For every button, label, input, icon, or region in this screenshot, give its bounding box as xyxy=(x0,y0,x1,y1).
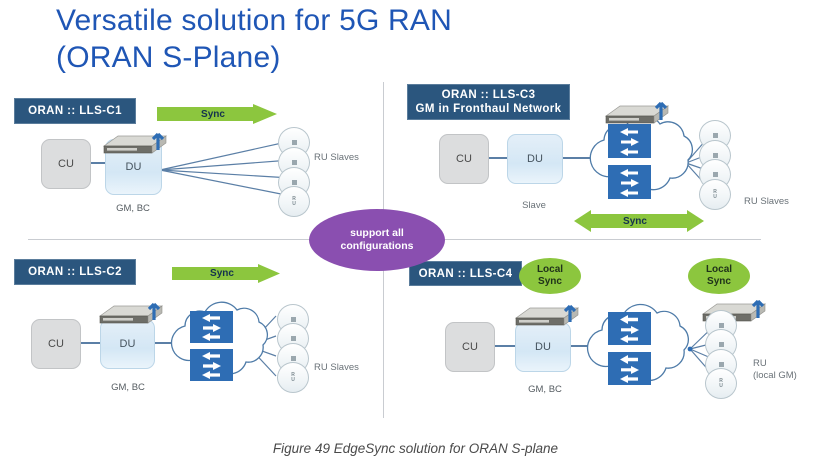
badge-lls-c3: ORAN :: LLS-C3 GM in Fronthaul Network xyxy=(407,84,570,120)
ru-icon xyxy=(291,356,296,361)
ru-label-c3-text: RU Slaves xyxy=(744,196,789,207)
ru-label-c3: RU Slaves xyxy=(744,196,808,208)
ru-node-c1-4: R U xyxy=(278,186,310,217)
ru-glyph-bottom: U xyxy=(713,195,717,200)
du-caption-c3-text: Slave xyxy=(522,200,546,211)
ru-label-c2-text: RU Slaves xyxy=(314,362,359,373)
local-sync-right-c4: Local Sync xyxy=(688,258,750,294)
ru-icon xyxy=(713,172,718,177)
center-ellipse-line-2: configurations xyxy=(341,240,414,253)
cu-box-c4-label: CU xyxy=(462,341,478,353)
gm-appliance-c4-du xyxy=(508,304,588,341)
gm-appliance-c3 xyxy=(598,102,678,139)
cu-box-c1: CU xyxy=(41,139,91,189)
du-caption-c3: Slave xyxy=(504,200,564,212)
ru-label-c1: RU Slaves xyxy=(314,152,376,164)
center-ellipse-line-1: support all xyxy=(350,227,404,240)
badge-lls-c1-line-1: ORAN :: LLS-C1 xyxy=(28,104,122,118)
slide-canvas: Versatile solution for 5G RAN (ORAN S-Pl… xyxy=(0,0,831,469)
sync-arrow-c1-label: Sync xyxy=(201,109,225,120)
sync-arrow-c2-label: Sync xyxy=(210,268,234,279)
local-sync-left-c4-line-1: Local xyxy=(537,264,563,276)
local-sync-left-c4: Local Sync xyxy=(519,258,581,294)
title-line-1: Versatile solution for 5G RAN xyxy=(56,4,452,37)
ru-icon xyxy=(291,317,296,322)
local-sync-left-c4-line-2: Sync xyxy=(538,276,562,288)
gm-appliance-c4-du-shape xyxy=(508,304,588,336)
du-caption-c1-text: GM, BC xyxy=(116,203,150,214)
local-sync-right-c4-line-2: Sync xyxy=(707,276,731,288)
du-box-c4-label: DU xyxy=(535,341,551,353)
du-box-c2-label: DU xyxy=(120,338,136,350)
badge-lls-c4-line-1: ORAN :: LLS-C4 xyxy=(419,267,513,281)
ru-label-c4-line-1: RU xyxy=(753,358,767,369)
ru-label-c1-text: RU Slaves xyxy=(314,152,359,163)
ru-icon xyxy=(719,362,724,367)
cu-box-c3: CU xyxy=(439,134,489,184)
ru-icon xyxy=(719,342,724,347)
cu-box-c1-label: CU xyxy=(58,158,74,170)
ru-label-c4-line-2: (local GM) xyxy=(753,370,797,381)
ru-icon xyxy=(291,336,296,341)
switch-c2-1-arrows xyxy=(190,311,233,343)
switch-c2-1 xyxy=(190,311,233,343)
switch-c3-2 xyxy=(608,165,651,199)
ru-icon xyxy=(713,153,718,158)
badge-lls-c2: ORAN :: LLS-C2 xyxy=(14,259,136,285)
ru-label-c4: RU (local GM) xyxy=(753,358,823,382)
sync-arrow-c3: Sync xyxy=(574,210,704,232)
cu-box-c4: CU xyxy=(445,322,495,372)
switch-c4-2-arrows xyxy=(608,352,651,385)
du-caption-c2: GM, BC xyxy=(95,382,161,394)
gm-appliance-c2-shape xyxy=(92,302,172,334)
ru-glyph-bottom: U xyxy=(291,378,295,383)
ru-icon xyxy=(719,323,724,328)
switch-c2-2 xyxy=(190,349,233,381)
switch-c4-1 xyxy=(608,312,651,345)
page-title: Versatile solution for 5G RAN (ORAN S-Pl… xyxy=(56,2,576,76)
badge-lls-c3-line-1: ORAN :: LLS-C3 xyxy=(442,88,536,102)
du-caption-c1: GM, BC xyxy=(97,203,169,215)
ru-icon xyxy=(292,180,297,185)
badge-lls-c2-line-1: ORAN :: LLS-C2 xyxy=(28,265,122,279)
ru-icon xyxy=(713,133,718,138)
support-all-configurations-ellipse: support all configurations xyxy=(309,209,445,271)
badge-lls-c4: ORAN :: LLS-C4 xyxy=(409,261,522,286)
du-caption-c4-text: GM, BC xyxy=(528,384,562,395)
ru-label-c2: RU Slaves xyxy=(314,362,376,374)
du-box-c3: DU xyxy=(507,134,563,184)
cu-box-c3-label: CU xyxy=(456,153,472,165)
ru-node-c4-4: R U xyxy=(705,368,737,399)
sync-arrow-c3-label: Sync xyxy=(623,216,647,227)
ru-glyph-bottom: U xyxy=(292,202,296,207)
ru-node-c3-4: R U xyxy=(699,179,731,210)
switch-c3-2-arrows xyxy=(608,165,651,199)
switch-c4-1-arrows xyxy=(608,312,651,345)
du-box-c3-label: DU xyxy=(527,153,543,165)
gm-appliance-c3-shape xyxy=(598,102,678,134)
switch-c4-2 xyxy=(608,352,651,385)
figure-caption: Figure 49 EdgeSync solution for ORAN S-p… xyxy=(0,441,831,456)
figure-caption-text: Figure 49 EdgeSync solution for ORAN S-p… xyxy=(273,441,558,456)
title-line-2: (ORAN S-Plane) xyxy=(56,39,576,76)
ru-icon xyxy=(292,140,297,145)
cu-box-c2: CU xyxy=(31,319,81,369)
badge-lls-c3-line-2: GM in Fronthaul Network xyxy=(416,102,562,116)
du-caption-c4: GM, BC xyxy=(512,384,578,396)
switch-c2-2-arrows xyxy=(190,349,233,381)
cu-box-c2-label: CU xyxy=(48,338,64,350)
sync-arrow-c1: Sync xyxy=(157,104,277,124)
sync-arrow-c2: Sync xyxy=(172,264,280,283)
gm-appliance-c2 xyxy=(92,302,172,339)
local-sync-right-c4-line-1: Local xyxy=(706,264,732,276)
gm-appliance-c1 xyxy=(96,132,176,169)
ru-icon xyxy=(292,160,297,165)
badge-lls-c1: ORAN :: LLS-C1 xyxy=(14,98,136,124)
ru-node-c2-4: R U xyxy=(277,362,309,393)
du-caption-c2-text: GM, BC xyxy=(111,382,145,393)
gm-appliance-c1-shape xyxy=(96,132,176,164)
ru-glyph-bottom: U xyxy=(719,384,723,389)
